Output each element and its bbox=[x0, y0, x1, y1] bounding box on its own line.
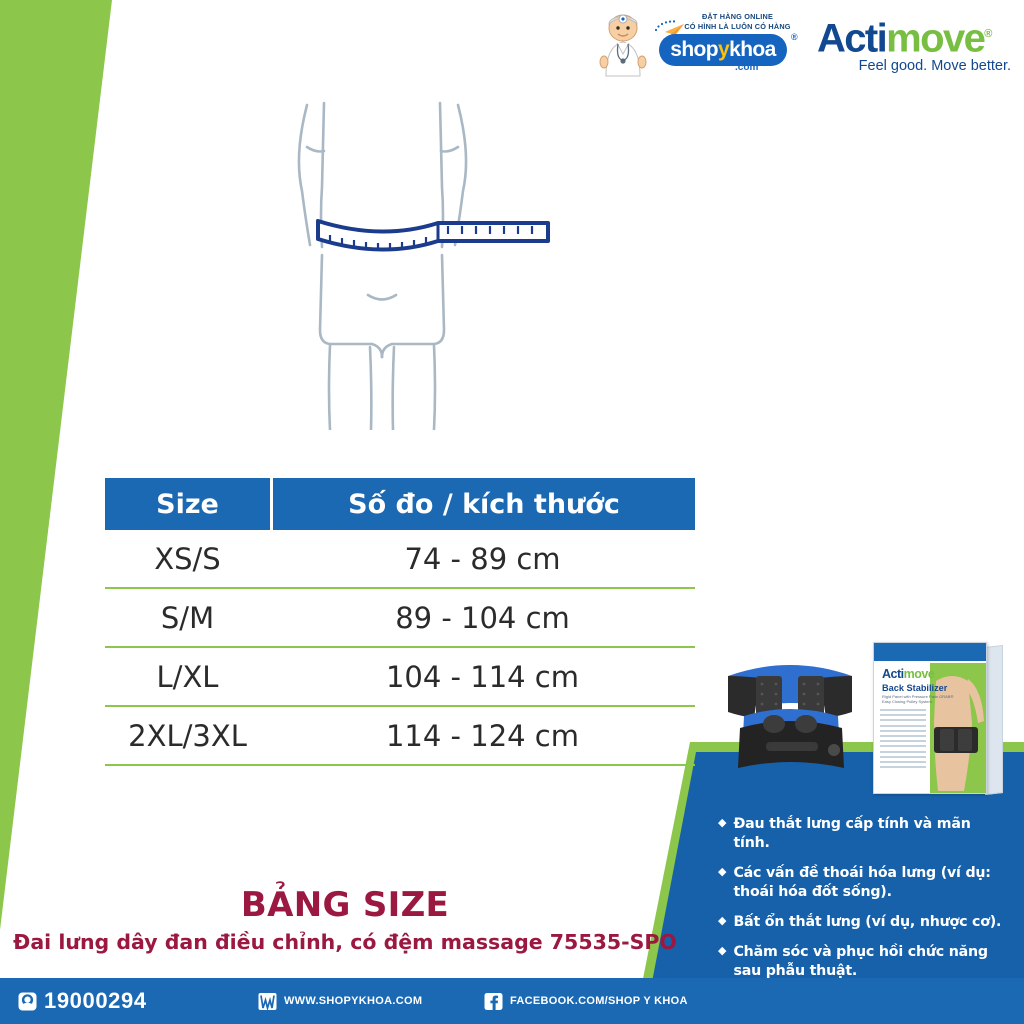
bullet-diamond-icon: ◆ bbox=[718, 864, 726, 902]
shopykhoa-dotcom: .com bbox=[735, 62, 758, 73]
doctor-mascot-icon bbox=[597, 10, 649, 78]
footer-website[interactable]: WWW.SHOPYKHOA.COM bbox=[258, 978, 422, 1024]
actimove-registered-mark: ® bbox=[984, 28, 991, 40]
cell-measurement: 114 - 124 cm bbox=[270, 707, 695, 764]
list-item: ◆ Các vấn đề thoái hóa lưng (ví dụ: thoá… bbox=[718, 864, 1008, 902]
value-size: S/M bbox=[161, 601, 214, 635]
list-item: ◆ Đau thắt lưng cấp tính và mãn tính. bbox=[718, 815, 1008, 853]
green-diagonal-left bbox=[0, 0, 230, 930]
shopykhoa-wordmark: shopykhoa bbox=[659, 34, 787, 66]
shopykhoa-tagline: ĐẶT HÀNG ONLINE CÓ HÌNH LÀ LUÔN CÓ HÀNG bbox=[675, 12, 800, 32]
cell-measurement: 74 - 89 cm bbox=[270, 530, 695, 587]
value-size: 2XL/3XL bbox=[128, 719, 247, 753]
wordmark-y: y bbox=[718, 38, 729, 61]
value-measurement: 89 - 104 cm bbox=[395, 601, 570, 635]
cell-size: 2XL/3XL bbox=[105, 707, 270, 764]
list-item-label: Chăm sóc và phục hồi chức năng sau phẫu … bbox=[733, 943, 1008, 981]
header-logos: ĐẶT HÀNG ONLINE CÓ HÌNH LÀ LUÔN CÓ HÀNG … bbox=[595, 4, 1020, 84]
box-logo-acti: Acti bbox=[882, 667, 904, 681]
actimove-move: move bbox=[886, 16, 984, 60]
measuring-tape bbox=[318, 221, 548, 250]
cell-measurement: 104 - 114 cm bbox=[270, 648, 695, 705]
actimove-wordmark: Actimove® bbox=[817, 12, 1017, 60]
box-front-panel: Actimove Back Stabilizer Rigid Panel wit… bbox=[873, 642, 987, 794]
product-packaging-box: Actimove Back Stabilizer Rigid Panel wit… bbox=[873, 642, 1001, 794]
bullet-diamond-icon: ◆ bbox=[718, 943, 726, 981]
box-product-subtitle: Rigid Panel with Pressure Pads GRAB® Eas… bbox=[882, 694, 960, 704]
globe-web-icon bbox=[258, 992, 277, 1011]
table-row: L/XL 104 - 114 cm bbox=[105, 648, 695, 707]
shopykhoa-registered-mark: ® bbox=[791, 32, 798, 42]
page-title: BẢNG SIZE bbox=[0, 885, 690, 925]
page-subtitle: Đai lưng dây đan điều chỉnh, có đệm mass… bbox=[0, 930, 690, 954]
box-top-band bbox=[874, 643, 986, 661]
wordmark-shop: shop bbox=[670, 38, 718, 61]
table-header-row: Size Số đo / kích thước bbox=[105, 478, 695, 530]
bullet-diamond-icon: ◆ bbox=[718, 815, 726, 853]
box-product-name: Back Stabilizer bbox=[882, 683, 947, 693]
list-item: ◆ Bất ổn thắt lưng (ví dụ, nhược cơ). bbox=[718, 913, 1008, 932]
value-measurement: 104 - 114 cm bbox=[386, 660, 579, 694]
box-description-lines bbox=[880, 709, 926, 771]
table-row: 2XL/3XL 114 - 124 cm bbox=[105, 707, 695, 766]
list-item: ◆ Chăm sóc và phục hồi chức năng sau phẫ… bbox=[718, 943, 1008, 981]
list-item-label: Đau thắt lưng cấp tính và mãn tính. bbox=[733, 815, 1008, 853]
header-label-measurement: Số đo / kích thước bbox=[348, 489, 620, 520]
value-measurement: 114 - 124 cm bbox=[386, 719, 579, 753]
bullet-diamond-icon: ◆ bbox=[718, 913, 726, 932]
value-size: XS/S bbox=[154, 542, 220, 576]
cell-size: S/M bbox=[105, 589, 270, 646]
table-header-cell-size: Size bbox=[105, 478, 273, 530]
table-header-cell-measurement: Số đo / kích thước bbox=[273, 478, 695, 530]
product-photo: Actimove Back Stabilizer Rigid Panel wit… bbox=[705, 640, 1015, 800]
shopykhoa-logo: ĐẶT HÀNG ONLINE CÓ HÌNH LÀ LUÔN CÓ HÀNG … bbox=[595, 4, 800, 82]
cell-size: XS/S bbox=[105, 530, 270, 587]
value-measurement: 74 - 89 cm bbox=[404, 542, 560, 576]
footer-phone[interactable]: 19000294 bbox=[18, 978, 147, 1024]
list-item-label: Các vấn đề thoái hóa lưng (ví dụ: thoái … bbox=[733, 864, 1008, 902]
waist-measurement-illustration bbox=[272, 95, 572, 430]
actimove-tagline: Feel good. Move better. bbox=[817, 58, 1017, 74]
footer-phone-label: 19000294 bbox=[44, 988, 147, 1014]
actimove-logo: Actimove® Feel good. Move better. bbox=[817, 12, 1017, 78]
value-size: L/XL bbox=[157, 660, 219, 694]
cell-size: L/XL bbox=[105, 648, 270, 705]
wordmark-khoa: khoa bbox=[729, 38, 776, 61]
size-table: Size Số đo / kích thước XS/S 74 - 89 cm … bbox=[105, 478, 695, 766]
tagline-line-2: CÓ HÌNH LÀ LUÔN CÓ HÀNG bbox=[675, 22, 800, 32]
table-row: S/M 89 - 104 cm bbox=[105, 589, 695, 648]
back-stabilizer-belt-image bbox=[710, 650, 870, 780]
footer-website-label: WWW.SHOPYKHOA.COM bbox=[284, 995, 422, 1007]
cell-measurement: 89 - 104 cm bbox=[270, 589, 695, 646]
hotline-headset-icon bbox=[18, 992, 37, 1011]
footer-bar: 19000294 WWW.SHOPYKHOA.COM FACEBOOK.COM/… bbox=[0, 978, 1024, 1024]
tagline-line-1: ĐẶT HÀNG ONLINE bbox=[675, 12, 800, 22]
footer-facebook-label: FACEBOOK.COM/SHOP Y KHOA bbox=[510, 995, 688, 1007]
facebook-icon bbox=[484, 992, 503, 1011]
table-row: XS/S 74 - 89 cm bbox=[105, 530, 695, 589]
indications-list: ◆ Đau thắt lưng cấp tính và mãn tính. ◆ … bbox=[718, 815, 1008, 992]
footer-facebook[interactable]: FACEBOOK.COM/SHOP Y KHOA bbox=[484, 978, 688, 1024]
box-side-panel bbox=[985, 645, 1003, 795]
size-chart-poster: ĐẶT HÀNG ONLINE CÓ HÌNH LÀ LUÔN CÓ HÀNG … bbox=[0, 0, 1024, 1024]
actimove-acti: Acti bbox=[817, 16, 886, 60]
box-logo-move: move bbox=[904, 667, 935, 681]
box-actimove-logo: Actimove bbox=[882, 667, 934, 681]
list-item-label: Bất ổn thắt lưng (ví dụ, nhược cơ). bbox=[733, 913, 1001, 932]
header-label-size: Size bbox=[156, 489, 219, 520]
